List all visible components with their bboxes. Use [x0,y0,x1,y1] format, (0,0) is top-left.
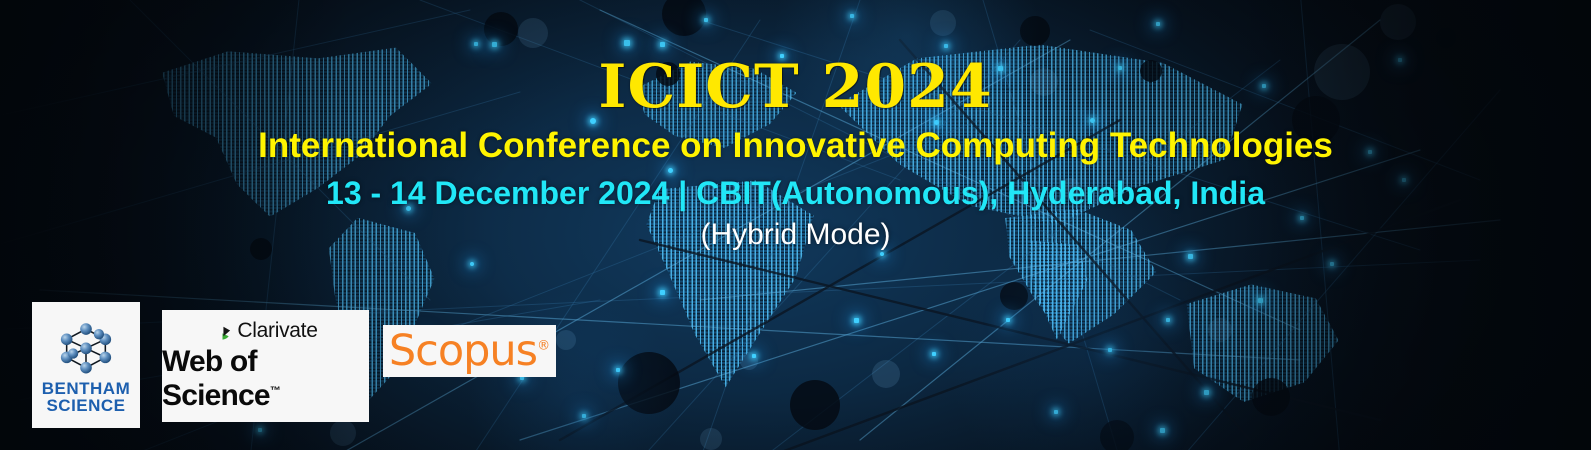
bentham-line-1: BENTHAM [42,380,131,397]
page-title: ICICT 2024 [0,0,1591,119]
bentham-line-2: SCIENCE [42,397,131,414]
trademark-symbol: ™ [270,385,281,397]
banner-text-block: ICICT 2024 International Conference on I… [0,0,1591,251]
mode-line: (Hybrid Mode) [0,211,1591,251]
logo-bentham-science: BENTHAM SCIENCE [32,302,140,428]
map-continent-india [1010,236,1100,346]
web-of-science-wordmark: Web of Science™ [162,345,369,413]
map-continent-oceania [1160,276,1350,416]
conference-banner: ICICT 2024 International Conference on I… [0,0,1591,450]
conference-subtitle: International Conference on Innovative C… [0,119,1591,166]
molecule-icon [53,320,119,378]
logo-clarivate-web-of-science: Clarivate Web of Science™ [162,310,369,422]
scopus-wordmark: Scopus® [389,330,550,373]
clarivate-logo-icon [213,322,232,341]
registered-symbol: ® [537,338,550,353]
clarivate-wordmark: Clarivate [237,319,317,343]
date-venue-line: 13 - 14 December 2024 | CBIT(Autonomous)… [0,166,1591,211]
logo-scopus: Scopus® [383,325,556,377]
bentham-wordmark: BENTHAM SCIENCE [42,380,131,414]
